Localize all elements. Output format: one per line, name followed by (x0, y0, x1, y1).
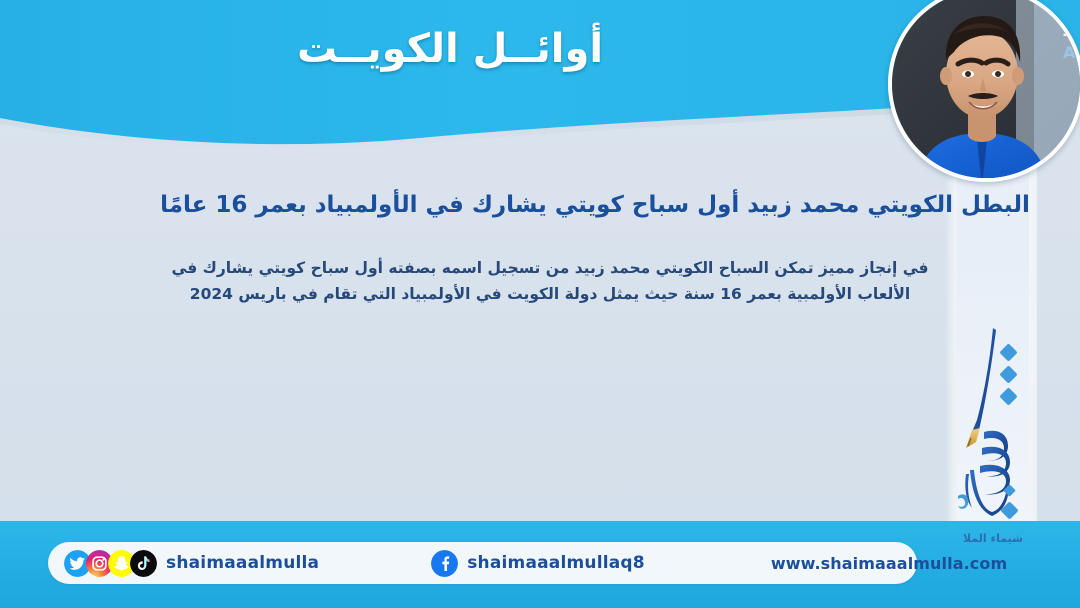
poster-canvas: أوائــل الكويــت (0, 0, 1080, 608)
website-url[interactable]: www.shaimaaalmulla.com (771, 554, 1007, 573)
calligraphy-mark (952, 320, 1034, 540)
facebook-icon[interactable] (431, 550, 458, 577)
tiktok-icon[interactable] (130, 550, 157, 577)
social-handle-primary[interactable]: shaimaaalmulla (166, 553, 319, 573)
social-icon-stack (64, 550, 157, 577)
article-body: في إنجاز مميز تمكن السباح الكويتي محمد ز… (150, 256, 950, 307)
page-title: أوائــل الكويــت (0, 26, 900, 72)
social-handle-facebook[interactable]: shaimaaalmullaq8 (467, 553, 645, 573)
brand-name: شيماء الملا (948, 532, 1038, 545)
footer-contact-bar: shaimaaalmulla shaimaaalmullaq8 www.shai… (48, 542, 917, 584)
brand-logo (952, 320, 1034, 540)
website-group: www.shaimaaalmulla.com (771, 554, 1007, 573)
article-headline: البطل الكويتي محمد زبيد أول سباح كويتي ي… (150, 190, 1040, 221)
social-group-facebook: shaimaaalmullaq8 (431, 550, 645, 577)
social-group-primary: shaimaaalmulla (64, 550, 319, 577)
